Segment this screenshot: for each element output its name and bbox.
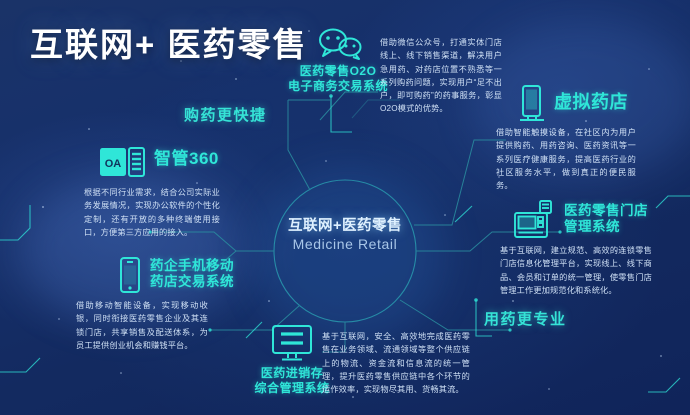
svg-text:OA: OA xyxy=(105,158,122,170)
center-hub: 互联网+医药零售 Medicine Retail xyxy=(268,174,422,328)
node-o2o-body: 借助微信公众号，打通实体门店线上、线下销售渠道，解决用户急用药、对药店位置不熟悉… xyxy=(380,36,502,116)
oa-document-icon: OA xyxy=(98,146,146,178)
node-mobile-pharmacy-heading-line2: 药店交易系统 xyxy=(150,274,234,290)
node-zhiguan-body: 根据不同行业需求，结合公司实际业务发展情况，实现办公软件的个性化定制，还有开放的… xyxy=(84,186,220,239)
pos-cash-register-icon xyxy=(512,199,556,241)
node-virtual-pharmacy-body: 借助智能触摸设备，在社区内为用户提供购药、用药咨询、医药资讯等一系列医疗健康服务… xyxy=(496,126,636,192)
node-mobile-pharmacy-body: 借助移动智能设备，实现移动收银，同时衔接医药零售企业及其连锁门店，共享销售及配送… xyxy=(76,299,208,352)
page-title: 互联网+ 医药零售 xyxy=(30,18,307,66)
node-o2o-heading-line2: 电子商务交易系统 xyxy=(288,79,388,94)
node-mobile-pharmacy-heading: 药企手机移动 药店交易系统 xyxy=(150,258,234,291)
hub-title-cn: 互联网+医药零售 xyxy=(268,214,422,235)
hub-title-en: Medicine Retail xyxy=(268,236,422,252)
node-retail-store-body: 基于互联网，建立规范、高效的连锁零售门店信息化管理平台，实现线上、线下商品、会员… xyxy=(500,244,652,297)
desktop-monitor-icon xyxy=(270,324,314,362)
node-o2o-heading-line1: 医药零售O2O xyxy=(288,64,388,79)
node-o2o-heading: 医药零售O2O 电子商务交易系统 xyxy=(288,64,388,93)
infographic-canvas: 互联网+ 医药零售 购药更快捷 用药更专业 互联网+医药零售 Medicine … xyxy=(0,0,690,415)
tagline-buy-faster: 购药更快捷 xyxy=(184,104,267,125)
tagline-use-professional: 用药更专业 xyxy=(484,308,567,329)
node-retail-store-heading: 医药零售门店 管理系统 xyxy=(564,203,648,236)
node-mobile-pharmacy-heading-line1: 药企手机移动 xyxy=(150,258,234,274)
smartphone-icon xyxy=(118,256,142,294)
node-inventory-body: 基于互联网，安全、高效地完成医药零售在业务领域、流通领域等整个供应链上的物流、资… xyxy=(322,330,470,396)
node-retail-store-heading-line1: 医药零售门店 xyxy=(564,203,648,219)
kiosk-terminal-icon xyxy=(518,84,546,124)
node-retail-store-heading-line2: 管理系统 xyxy=(564,219,648,235)
wechat-chat-bubbles-icon xyxy=(316,26,364,60)
node-o2o-ecommerce[interactable]: 医药零售O2O 电子商务交易系统 xyxy=(288,26,388,93)
node-virtual-pharmacy-heading: 虚拟药店 xyxy=(554,92,628,114)
node-zhiguan-heading: 智管360 xyxy=(154,149,219,170)
